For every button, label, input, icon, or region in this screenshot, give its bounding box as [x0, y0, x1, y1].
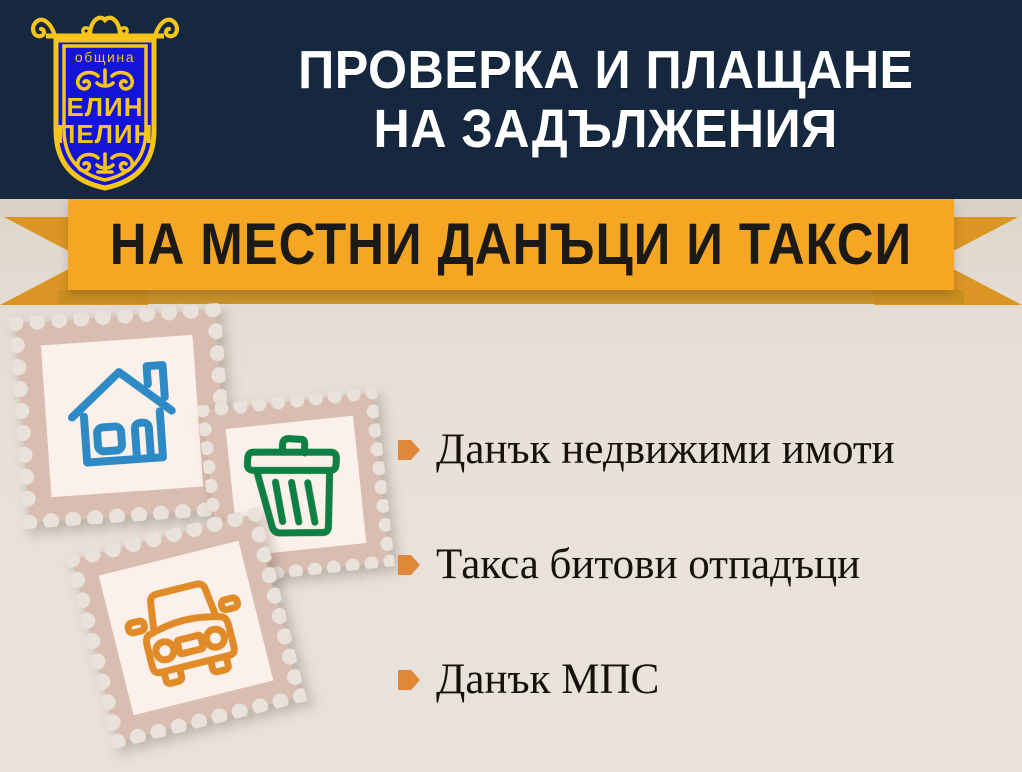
title-line-1: ПРОВЕРКА И ПЛАЩАНЕ: [298, 42, 913, 98]
logo-small-text: община: [75, 49, 135, 65]
ribbon-text: НА МЕСТНИ ДАНЪЦИ И ТАКСИ: [110, 216, 912, 274]
ribbon-shadow-strip: [58, 290, 964, 304]
ribbon-band: НА МЕСТНИ ДАНЪЦИ И ТАКСИ: [68, 199, 954, 290]
list-item-label: Данък недвижими имоти: [436, 426, 895, 473]
arrow-bullet-icon: [398, 552, 420, 578]
list-item-label: Такса битови отпадъци: [436, 541, 860, 588]
logo-main-line2: ПЕЛИН: [57, 119, 154, 149]
municipality-logo: община ЕЛИН ПЕЛИН: [22, 6, 188, 194]
logo-main-line1: ЕЛИН: [66, 92, 143, 122]
arrow-bullet-icon: [398, 667, 420, 693]
list-item-label: Данък МПС: [436, 656, 659, 703]
tax-types-list: Данък недвижими имоти Такса битови отпад…: [398, 420, 1008, 710]
title-line-2: НА ЗАДЪЛЖЕНИЯ: [374, 101, 838, 157]
list-item[interactable]: Такса битови отпадъци: [398, 535, 1008, 595]
ribbon-banner: НА МЕСТНИ ДАНЪЦИ И ТАКСИ: [0, 199, 1022, 311]
list-item[interactable]: Данък МПС: [398, 650, 1008, 710]
arrow-bullet-icon: [398, 437, 420, 463]
header-bar: община ЕЛИН ПЕЛИН: [0, 0, 1022, 199]
list-item[interactable]: Данък недвижими имоти: [398, 420, 1008, 480]
page-title: ПРОВЕРКА И ПЛАЩАНЕ НА ЗАДЪЛЖЕНИЯ: [190, 0, 1022, 199]
poster-canvas: община ЕЛИН ПЕЛИН: [0, 0, 1022, 772]
